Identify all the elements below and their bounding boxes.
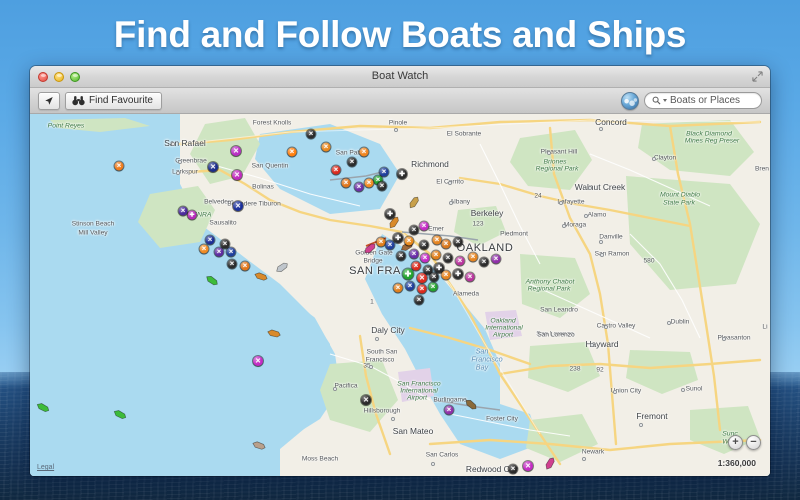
boat-pin[interactable]: ✕: [322, 143, 331, 152]
boat-pin[interactable]: ✕: [429, 283, 438, 292]
boat-pin[interactable]: ✕: [232, 170, 242, 180]
boat-pin[interactable]: ✕: [454, 238, 463, 247]
boat-pin[interactable]: ✚: [397, 169, 407, 179]
boat-pin[interactable]: ✕: [418, 285, 427, 294]
zoom-out-button[interactable]: −: [746, 435, 761, 450]
boat-pin[interactable]: ✕: [430, 273, 439, 282]
boat-pin[interactable]: ✕: [417, 273, 427, 283]
app-toolbar: Find Favourite Boats or Places: [30, 88, 770, 114]
boat-pin[interactable]: ✕: [365, 179, 374, 188]
boat-pin[interactable]: ✕: [348, 158, 357, 167]
boat-pin[interactable]: ✚: [453, 269, 463, 279]
boat-pin[interactable]: ✕: [523, 461, 533, 471]
boat-pin[interactable]: ✕: [227, 248, 236, 257]
find-favourite-button[interactable]: Find Favourite: [65, 92, 162, 110]
boat-pin[interactable]: ✕: [361, 395, 371, 405]
boat-pin[interactable]: ✕: [228, 260, 237, 269]
boat-pin[interactable]: ✚: [393, 233, 403, 243]
boat-pin[interactable]: ✕: [241, 262, 250, 271]
search-placeholder: Boats or Places: [670, 95, 740, 106]
boat-pin[interactable]: ✕: [288, 148, 297, 157]
globe-icon[interactable]: [621, 92, 639, 110]
boat-pin[interactable]: ✕: [480, 258, 489, 267]
boat-pin[interactable]: ✕: [360, 148, 369, 157]
boat-pin[interactable]: ✚: [385, 209, 395, 219]
boat-pin[interactable]: ✕: [342, 179, 351, 188]
boat-pin[interactable]: ✕: [332, 166, 341, 175]
page-title: Find and Follow Boats and Ships: [0, 14, 800, 56]
boat-pin[interactable]: ✕: [355, 183, 364, 192]
window-titlebar: Boat Watch: [30, 66, 770, 88]
map-scale-label: 1:360,000: [718, 458, 756, 468]
find-favourite-label: Find Favourite: [89, 95, 153, 106]
boat-pin[interactable]: ✕: [410, 250, 419, 259]
toolbar-right-group: Boats or Places: [621, 92, 770, 110]
legal-link[interactable]: Legal: [37, 464, 54, 471]
boat-pin[interactable]: ✕: [206, 236, 215, 245]
boat-pin[interactable]: ✕: [412, 262, 421, 271]
map-canvas[interactable]: Point ReyesForest KnollsBolinasStinson B…: [30, 114, 770, 476]
boat-pin[interactable]: ✕: [377, 238, 386, 247]
boat-pin[interactable]: ✕: [410, 226, 419, 235]
boat-pin[interactable]: ✕: [179, 207, 188, 216]
boat-pin[interactable]: ✕: [380, 168, 389, 177]
boat-pin[interactable]: ✕: [442, 271, 451, 280]
boat-pin[interactable]: ✕: [420, 222, 429, 231]
boat-pin[interactable]: ✕: [405, 237, 414, 246]
boat-pin[interactable]: ✕: [233, 201, 243, 211]
boat-pin[interactable]: ✕: [397, 252, 406, 261]
boat-pin[interactable]: ✕: [200, 245, 209, 254]
location-arrow-icon: [44, 96, 54, 106]
boat-pin[interactable]: ✕: [444, 254, 453, 263]
boat-pin[interactable]: ✕: [442, 240, 451, 249]
boat-pin[interactable]: ✚: [188, 211, 197, 220]
boat-pin[interactable]: ✕: [421, 254, 430, 263]
boat-pin[interactable]: ✕: [415, 296, 424, 305]
boat-pin[interactable]: ✕: [445, 406, 454, 415]
boat-pin[interactable]: ✕: [215, 248, 224, 257]
binoculars-icon: [72, 95, 85, 106]
boat-pin[interactable]: ✕: [509, 465, 518, 474]
boat-pin[interactable]: ✕: [231, 146, 241, 156]
boat-pin[interactable]: ✕: [386, 241, 395, 250]
boat-pin[interactable]: ✕: [456, 257, 465, 266]
map-zoom-controls[interactable]: + −: [728, 435, 761, 450]
search-dropdown-caret[interactable]: [663, 99, 667, 102]
boat-pin[interactable]: ✕: [469, 253, 478, 262]
fullscreen-icon[interactable]: [752, 71, 763, 82]
zoom-in-button[interactable]: +: [728, 435, 743, 450]
search-input[interactable]: Boats or Places: [644, 92, 762, 109]
boat-pin[interactable]: ✕: [253, 356, 263, 366]
boat-pin[interactable]: ✕: [492, 255, 501, 264]
boat-pin[interactable]: ✕: [307, 130, 316, 139]
boat-pin[interactable]: ✕: [394, 284, 403, 293]
app-window: Boat Watch Find Favourite: [30, 66, 770, 476]
boat-pin[interactable]: ✕: [378, 182, 387, 191]
map-pin-layer[interactable]: ✕✕✕✕✕✕✕✕✕✕✕✕✚✕✕✕✕✕✚✕✚✕✕✚✕✕✕✕✕✕✕✕✕✕✕✕✕✕✕✕…: [30, 114, 770, 476]
boat-pin[interactable]: ✕: [466, 273, 475, 282]
window-title: Boat Watch: [30, 70, 770, 82]
boat-pin[interactable]: ✕: [420, 241, 429, 250]
boat-pin[interactable]: ✕: [432, 251, 441, 260]
boat-pin[interactable]: ✚: [403, 269, 414, 280]
search-icon: [652, 96, 661, 105]
boat-pin[interactable]: ✕: [433, 236, 442, 245]
boat-pin[interactable]: ✕: [406, 282, 415, 291]
boat-pin[interactable]: ✕: [208, 162, 218, 172]
boat-pin[interactable]: ✕: [115, 162, 124, 171]
locate-button[interactable]: [38, 92, 60, 110]
